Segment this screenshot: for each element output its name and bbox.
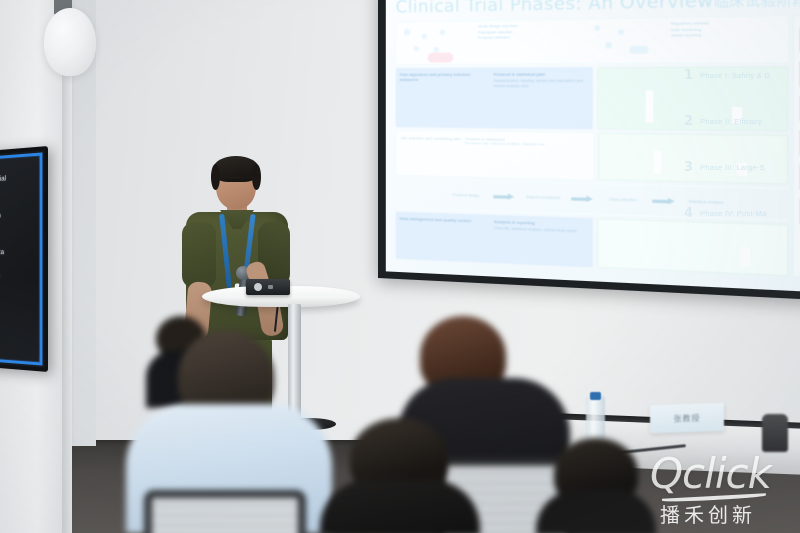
phase-number: 4	[684, 206, 693, 221]
phase-label: Phase IV: Post-Ma	[700, 209, 766, 218]
card-text: Randomization, blinding, sample size cal…	[494, 79, 589, 89]
mini-node-diagram-2	[585, 22, 667, 60]
arrow-right-icon	[571, 195, 595, 202]
presenter-sleeve-left	[182, 222, 216, 288]
audience-body	[320, 480, 480, 533]
card-heading: Protocol & statistical plan	[494, 72, 589, 77]
phase-label: Phase II: Efficacy	[700, 117, 762, 126]
phase-number: 1	[684, 68, 693, 83]
phase-list-item: 3 Phase III: Large-S	[684, 144, 800, 190]
water-bottle-cap	[590, 392, 601, 400]
arrow-right-icon	[652, 198, 677, 205]
flow-step: Protocol design	[443, 193, 490, 199]
card-heading: Trial objectives and primary outcome mea…	[400, 72, 490, 82]
card-heading: Site selection and monitoring plan	[401, 136, 461, 142]
blue-info-card: Trial objectives and primary outcome mea…	[396, 67, 593, 129]
slide-title-cn: 临床试验阶段概览	[714, 0, 800, 11]
card-text: Enrollment rate, follow-up duration, dat…	[465, 142, 545, 148]
bullet-item: Endpoint definition	[478, 35, 580, 42]
conference-room-scene: ▴ such a special precious , and then in …	[0, 0, 800, 533]
slide-title: Clinical Trial Phases: An Overview临床试验阶段…	[396, 0, 800, 18]
slide-bullets-left: Study design overview Participant select…	[478, 23, 580, 61]
phase-list-item: 1 Phase I: Safety & D	[684, 52, 800, 98]
arrow-right-icon	[493, 193, 516, 200]
flow-step: Data collection	[598, 197, 649, 204]
card-text: Clean file, statistical analysis, clinic…	[494, 226, 589, 234]
phase-list-item: 2 Phase II: Efficacy	[684, 98, 800, 144]
audience-member-center-front	[320, 418, 480, 533]
phase-list-item: 4 Phase IV: Post-Ma	[684, 190, 800, 236]
monitor-line: precious	[0, 183, 33, 198]
phase-label: Phase I: Safety & D	[700, 71, 770, 80]
monitor-screen: ▴ such a special precious , and then in …	[0, 157, 39, 362]
wall-monitor[interactable]: ▴ such a special precious , and then in …	[0, 146, 48, 372]
device-knob[interactable]	[254, 283, 262, 291]
phase-number: 2	[684, 114, 693, 129]
ceiling-speaker	[44, 8, 96, 76]
name-placard-text: 张教授	[674, 412, 701, 424]
presenter-clicker-device[interactable]	[246, 279, 290, 295]
blue-info-card-2: Data management and quality control Anal…	[396, 211, 593, 267]
card-heading: Data management and quality control	[400, 216, 490, 224]
water-bottle[interactable]	[586, 396, 605, 440]
phase-list: 1 Phase I: Safety & D 2 Phase II: Effica…	[684, 52, 800, 236]
phase-number: 3	[684, 160, 693, 175]
monitor-line: artificial	[0, 233, 33, 246]
mini-node-diagram	[400, 25, 474, 62]
flow-step: Patient recruitment	[519, 195, 568, 201]
audience-body	[536, 490, 656, 533]
phase-label: Phase III: Large-S	[700, 163, 765, 172]
table-equipment	[762, 414, 788, 452]
wall-column-edge	[62, 0, 72, 533]
name-placard: 张教授	[650, 403, 724, 434]
audience-member-foreground	[126, 330, 332, 533]
slide-title-en: Clinical Trial Phases: An Overview	[396, 0, 714, 18]
monitor-line: it's welcome	[0, 270, 33, 283]
presenter-glasses	[219, 177, 254, 184]
device-indicator	[268, 285, 273, 289]
monitor-line: the chief data	[0, 246, 33, 258]
audience-member-far-right	[536, 438, 656, 533]
audience-chair	[144, 490, 306, 533]
bullet-item: Safety reporting	[671, 32, 784, 39]
plain-info-card: Site selection and monitoring plan Timel…	[396, 130, 594, 180]
